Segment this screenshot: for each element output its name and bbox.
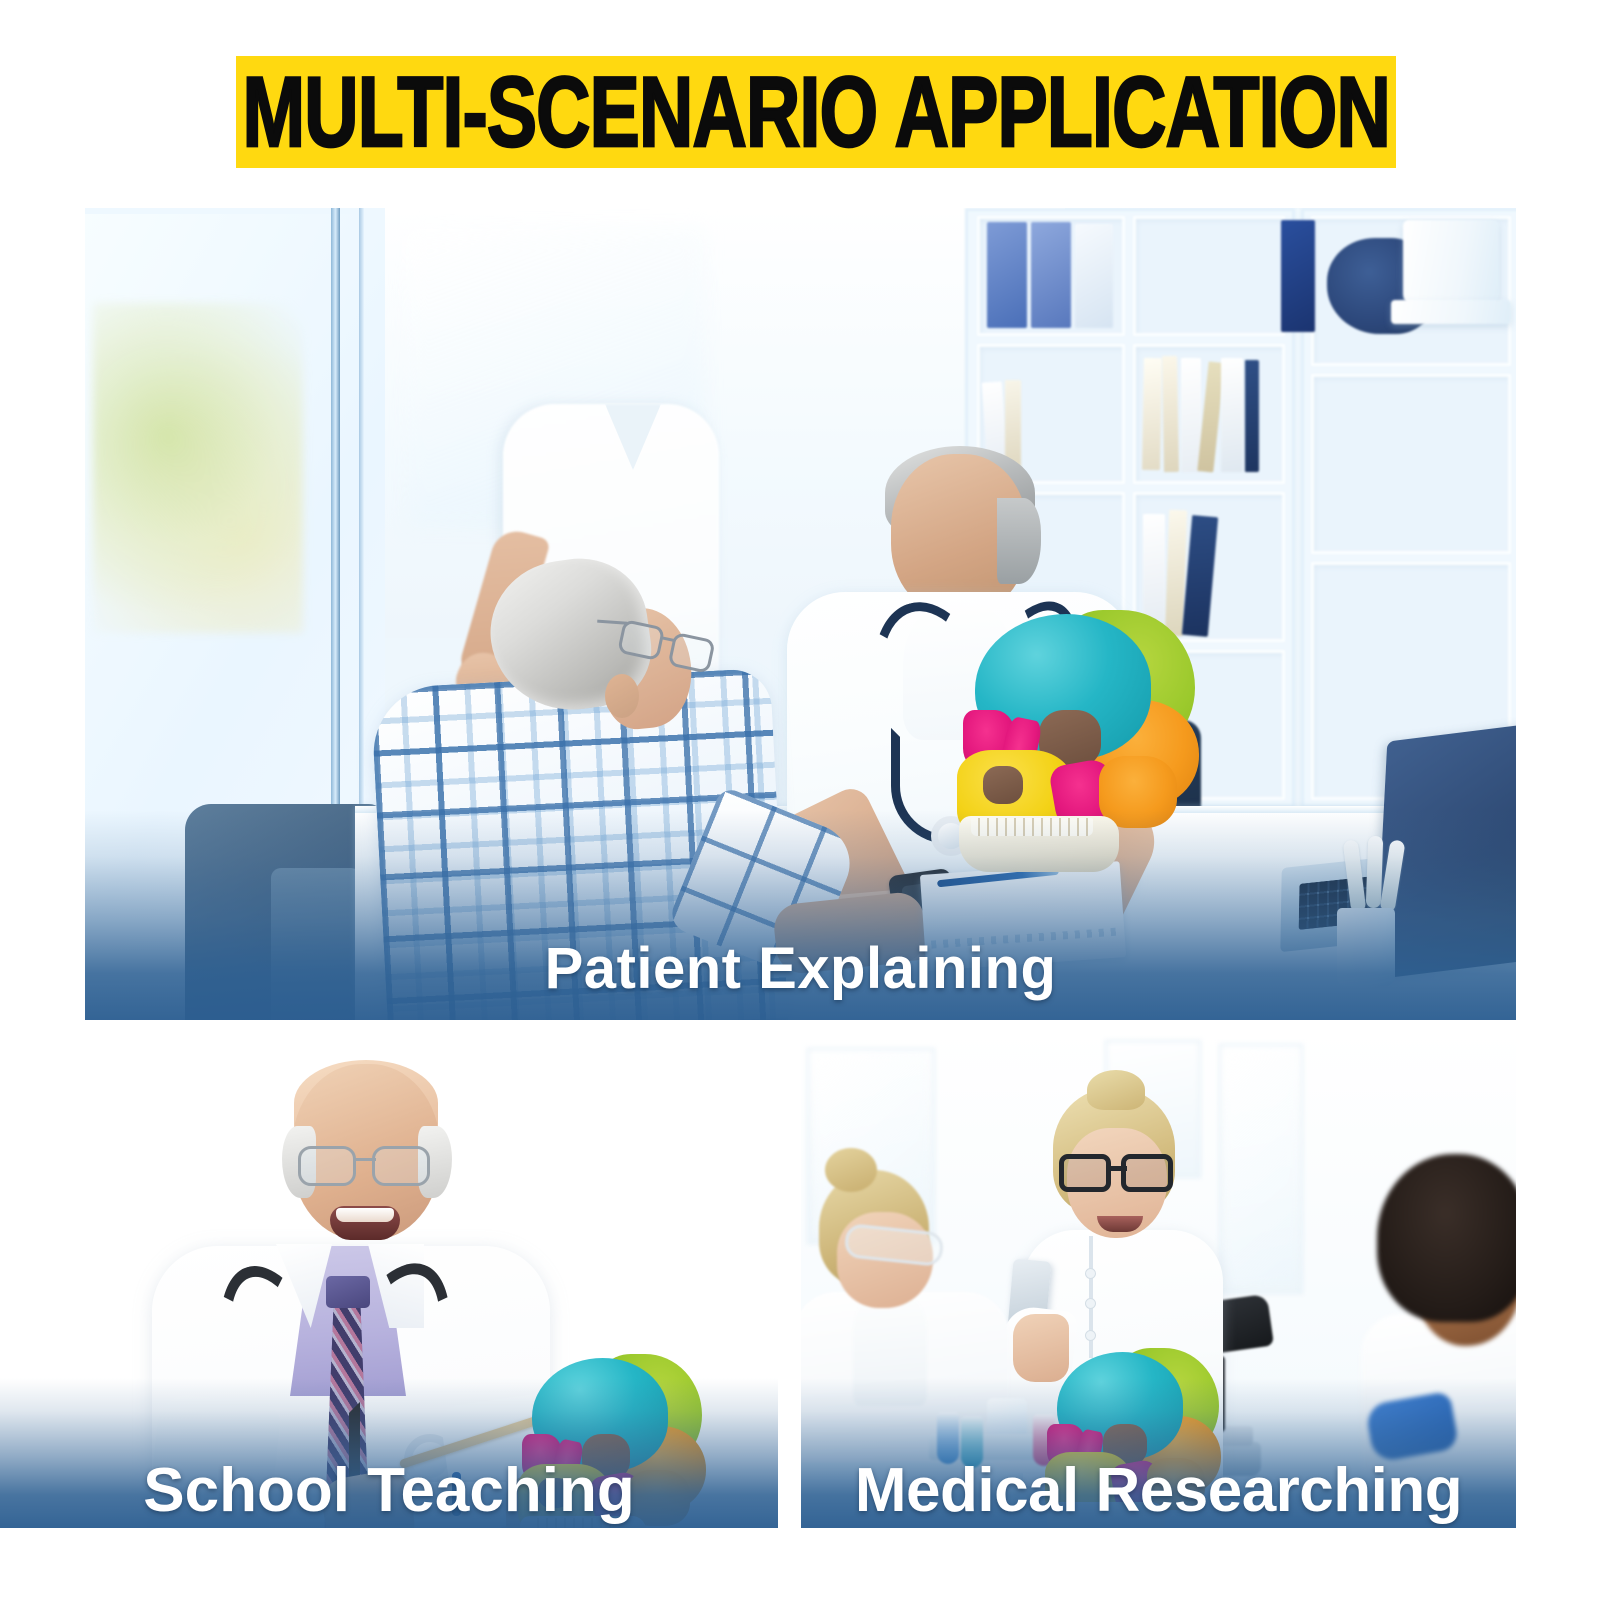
book-2 xyxy=(1162,356,1179,472)
lab-scene: Medical Researching xyxy=(801,1030,1516,1528)
caption-school-teaching: School Teaching xyxy=(0,1460,778,1522)
glasses-lens-left xyxy=(617,619,665,661)
skull-model-top xyxy=(957,606,1217,876)
ceramic-saucer xyxy=(1391,300,1511,324)
binder-blue-2 xyxy=(1031,222,1071,328)
researcher-right-hair xyxy=(1377,1154,1516,1322)
marketing-image: MULTI-SCENARIO APPLICATION xyxy=(0,0,1600,1600)
doctor-hair-side xyxy=(997,498,1041,584)
researcher-glasses-bridge xyxy=(1109,1166,1127,1171)
professor-lens-right xyxy=(372,1146,430,1186)
researcher-hair-bun xyxy=(1087,1070,1145,1110)
researcher-lens-right xyxy=(1121,1154,1173,1192)
panel-school-teaching: School Teaching xyxy=(0,1030,778,1528)
ceramic-pot xyxy=(1403,220,1499,306)
clinic-scene: Patient Explaining xyxy=(85,208,1516,1020)
outdoor-greenery xyxy=(93,303,303,633)
researcher-glasses xyxy=(1059,1154,1177,1194)
panel-patient-explaining: Patient Explaining xyxy=(85,208,1516,1020)
researcher-button-3 xyxy=(1085,1330,1096,1341)
patient-ear xyxy=(605,674,639,718)
book-5 xyxy=(1221,358,1243,472)
glasses-bridge xyxy=(661,636,675,642)
researcher-left-inner-top xyxy=(853,1296,927,1406)
professor-glasses-bridge xyxy=(354,1158,376,1161)
researcher-button-2 xyxy=(1085,1298,1096,1309)
professor-glasses xyxy=(298,1146,434,1188)
teaching-scene: School Teaching xyxy=(0,1030,778,1528)
book-6-navy xyxy=(1245,360,1259,472)
researcher-button-1 xyxy=(1085,1268,1096,1279)
page-title: MULTI-SCENARIO APPLICATION xyxy=(242,62,1390,162)
caption-medical-researching: Medical Researching xyxy=(801,1460,1516,1522)
binder-navy xyxy=(1281,220,1315,332)
window-frame-top xyxy=(85,208,385,214)
caption-patient-explaining: Patient Explaining xyxy=(85,940,1516,998)
book-1 xyxy=(1142,358,1162,470)
skull-mastoid-orange xyxy=(1099,756,1177,828)
lab-window-glow-right xyxy=(1225,1052,1297,1284)
researcher-left-hair-bun xyxy=(825,1148,877,1192)
skull-teeth xyxy=(971,818,1093,836)
professor-teeth xyxy=(336,1208,394,1222)
skull-nasal-cavity xyxy=(983,766,1023,804)
shelf-cell-2 xyxy=(1133,216,1285,336)
shelf-cell-10 xyxy=(1311,374,1511,554)
binder-white-1 xyxy=(1075,224,1113,328)
panel-medical-researching: Medical Researching xyxy=(801,1030,1516,1528)
title-banner: MULTI-SCENARIO APPLICATION xyxy=(236,56,1396,168)
professor-lens-left xyxy=(298,1146,356,1186)
researcher-lens-left xyxy=(1059,1154,1111,1192)
binder-blue-1 xyxy=(987,222,1027,328)
